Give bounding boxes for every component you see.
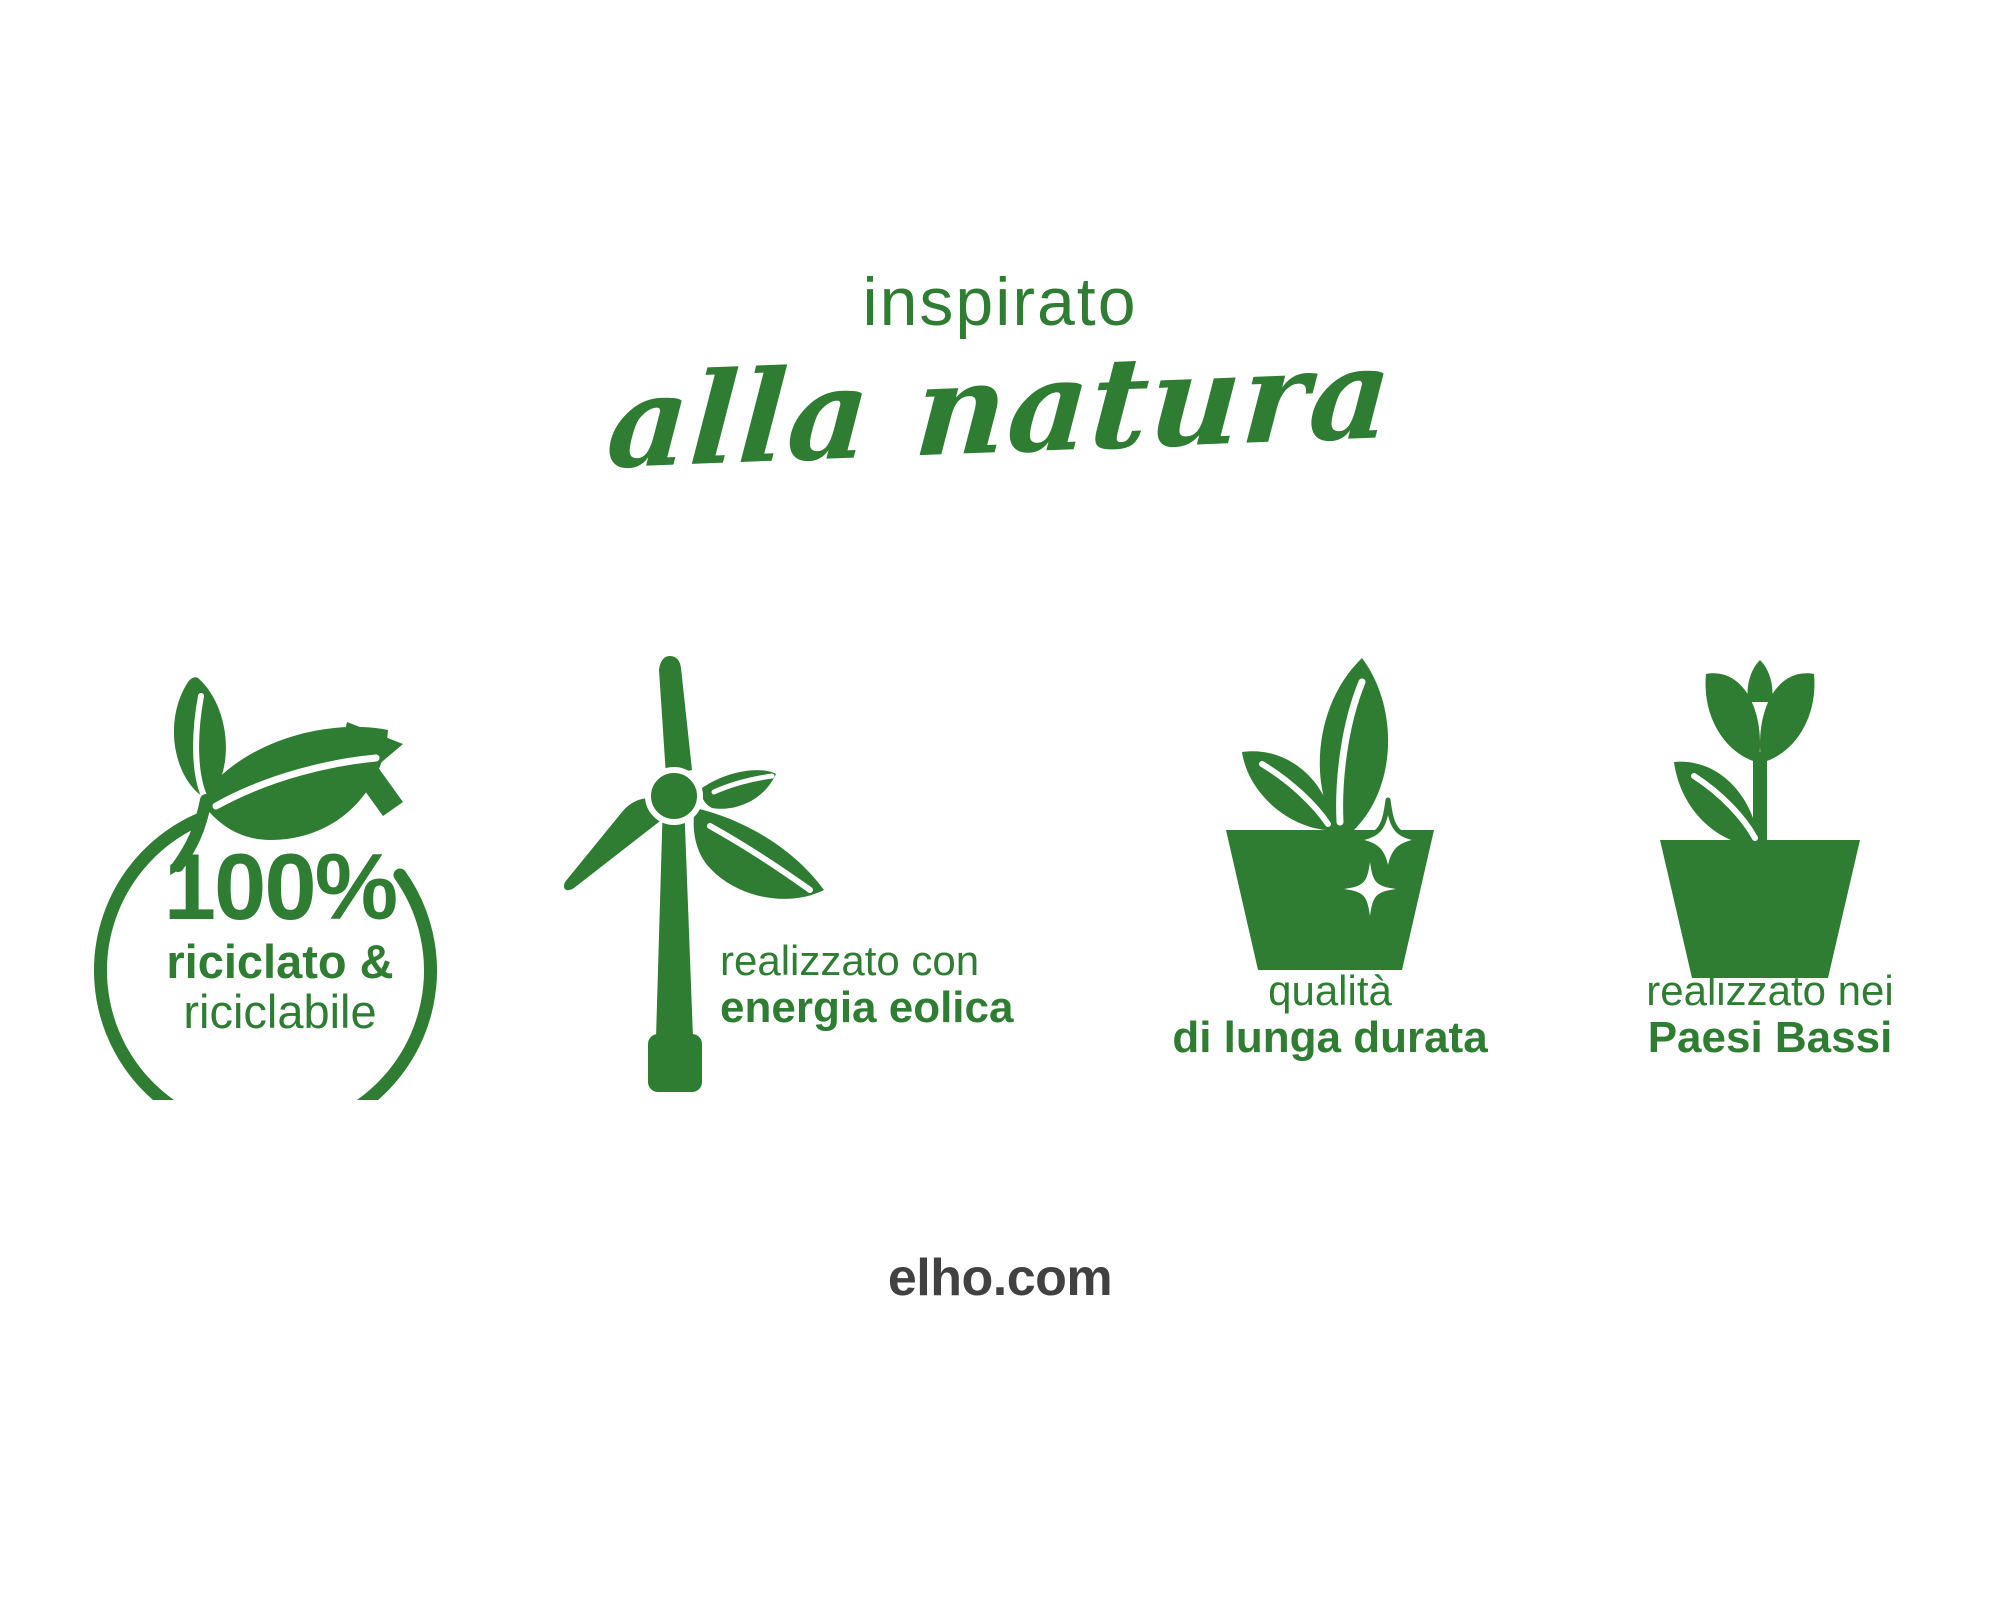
badge-quality-caption: qualità di lunga durata	[1100, 970, 1560, 1060]
wind-turbine-leaf-icon	[560, 640, 1100, 1110]
origin-caption-line1: realizzato nei	[1540, 970, 2000, 1012]
footer: elho.com	[0, 1248, 2000, 1308]
badge-recycled: 100% riciclato & riciclabile	[70, 640, 490, 1100]
promo-banner: inspirato alla natura	[0, 0, 2000, 1600]
origin-caption-line2: Paesi Bassi	[1540, 1016, 2000, 1060]
recycled-caption-line1: riciclato &	[70, 937, 490, 986]
badge-wind	[560, 640, 1100, 1110]
quality-caption-line2: di lunga durata	[1100, 1016, 1560, 1060]
quality-caption-line1: qualità	[1100, 970, 1560, 1012]
badge-origin-caption: realizzato nei Paesi Bassi	[1540, 970, 2000, 1060]
badge-recycled-caption: 100% riciclato & riciclabile	[70, 842, 490, 1036]
recycled-percent: 100%	[70, 842, 490, 931]
wind-caption-line2: energia eolica	[720, 986, 1120, 1030]
recycled-caption-line2: riciclabile	[70, 987, 490, 1036]
badge-row: 100% riciclato & riciclabile	[0, 640, 2000, 1110]
badge-wind-caption: realizzato con energia eolica	[560, 940, 1120, 1030]
wind-caption-line1: realizzato con	[720, 940, 1120, 982]
headline-block: inspirato alla natura	[0, 268, 2000, 474]
website-link[interactable]: elho.com	[888, 1249, 1112, 1307]
